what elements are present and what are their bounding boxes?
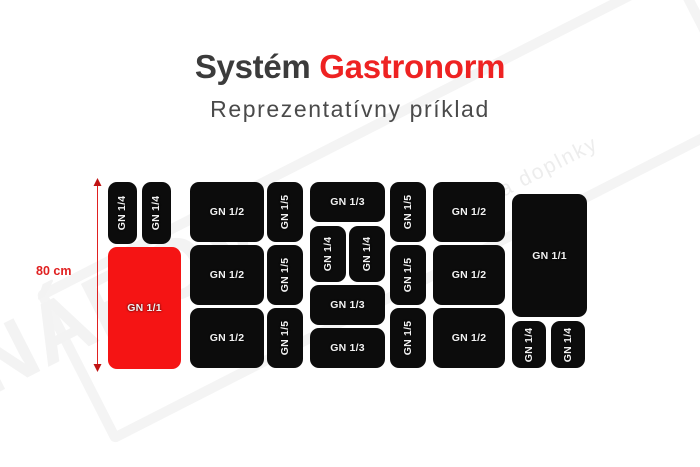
gn-pan[interactable]: GN 1/4 bbox=[551, 321, 585, 368]
gn-pan[interactable]: GN 1/4 bbox=[142, 182, 171, 244]
gn-pan-label: GN 1/2 bbox=[452, 332, 486, 344]
gastronorm-diagram: NÁROV a doplnky Systém Gastronorm Reprez… bbox=[0, 0, 700, 467]
watermark-sub-text: a doplnky bbox=[495, 132, 602, 202]
gn-pan-label: GN 1/2 bbox=[210, 269, 244, 281]
gn-pan[interactable]: GN 1/2 bbox=[190, 182, 264, 242]
dimension-arrow-icon bbox=[92, 178, 103, 372]
page-title: Systém Gastronorm bbox=[0, 48, 700, 86]
gn-pan-label: GN 1/5 bbox=[279, 321, 291, 355]
gn-pan-label: GN 1/1 bbox=[532, 250, 566, 262]
title-part-gastronorm: Gastronorm bbox=[319, 48, 505, 85]
gn-pan-label: GN 1/4 bbox=[117, 196, 129, 230]
gn-pan[interactable]: GN 1/5 bbox=[390, 245, 426, 305]
dimension-label: 80 cm bbox=[36, 264, 71, 278]
gn-pan[interactable]: GN 1/4 bbox=[349, 226, 385, 282]
title-part-system: Systém bbox=[195, 48, 319, 85]
gn-pan[interactable]: GN 1/5 bbox=[390, 182, 426, 242]
gn-pan[interactable]: GN 1/2 bbox=[433, 245, 505, 305]
gn-pan-label: GN 1/4 bbox=[322, 237, 334, 271]
gn-pan-label: GN 1/2 bbox=[210, 332, 244, 344]
gn-pan[interactable]: GN 1/2 bbox=[190, 308, 264, 368]
gn-pan-label: GN 1/5 bbox=[402, 321, 414, 355]
gn-pan[interactable]: GN 1/2 bbox=[190, 245, 264, 305]
gn-pan[interactable]: GN 1/4 bbox=[310, 226, 346, 282]
gn-pan-label: GN 1/2 bbox=[452, 206, 486, 218]
gn-pan-label: GN 1/4 bbox=[361, 237, 373, 271]
gn-pan[interactable]: GN 1/5 bbox=[390, 308, 426, 368]
gn-pan-label: GN 1/4 bbox=[523, 327, 535, 361]
gn-pan-label: GN 1/5 bbox=[402, 258, 414, 292]
gn-pan[interactable]: GN 1/1 bbox=[512, 194, 587, 317]
gn-pan[interactable]: GN 1/5 bbox=[267, 182, 303, 242]
gn-pan-label: GN 1/3 bbox=[330, 342, 364, 354]
page-subtitle: Reprezentatívny príklad bbox=[0, 96, 700, 123]
gn-pan[interactable]: GN 1/2 bbox=[433, 308, 505, 368]
gn-pan[interactable]: GN 1/3 bbox=[310, 285, 385, 325]
gn-pan[interactable]: GN 1/2 bbox=[433, 182, 505, 242]
gn-pan-label: GN 1/4 bbox=[151, 196, 163, 230]
gn-pan[interactable]: GN 1/5 bbox=[267, 245, 303, 305]
gn-pan-label: GN 1/3 bbox=[330, 299, 364, 311]
gn-pan[interactable]: GN 1/4 bbox=[108, 182, 137, 244]
gn-pan-label: GN 1/4 bbox=[562, 327, 574, 361]
gn-pan-label: GN 1/2 bbox=[210, 206, 244, 218]
gn-pan-label: GN 1/1 bbox=[127, 302, 161, 314]
gn-pan[interactable]: GN 1/3 bbox=[310, 328, 385, 368]
gn-pan[interactable]: GN 1/1 bbox=[108, 247, 181, 369]
gn-pan-label: GN 1/3 bbox=[330, 196, 364, 208]
gn-pan[interactable]: GN 1/3 bbox=[310, 182, 385, 222]
gn-pan[interactable]: GN 1/4 bbox=[512, 321, 546, 368]
gn-pan-label: GN 1/2 bbox=[452, 269, 486, 281]
gn-pan-label: GN 1/5 bbox=[402, 195, 414, 229]
gn-pan-label: GN 1/5 bbox=[279, 195, 291, 229]
gn-pan-label: GN 1/5 bbox=[279, 258, 291, 292]
gn-pan[interactable]: GN 1/5 bbox=[267, 308, 303, 368]
